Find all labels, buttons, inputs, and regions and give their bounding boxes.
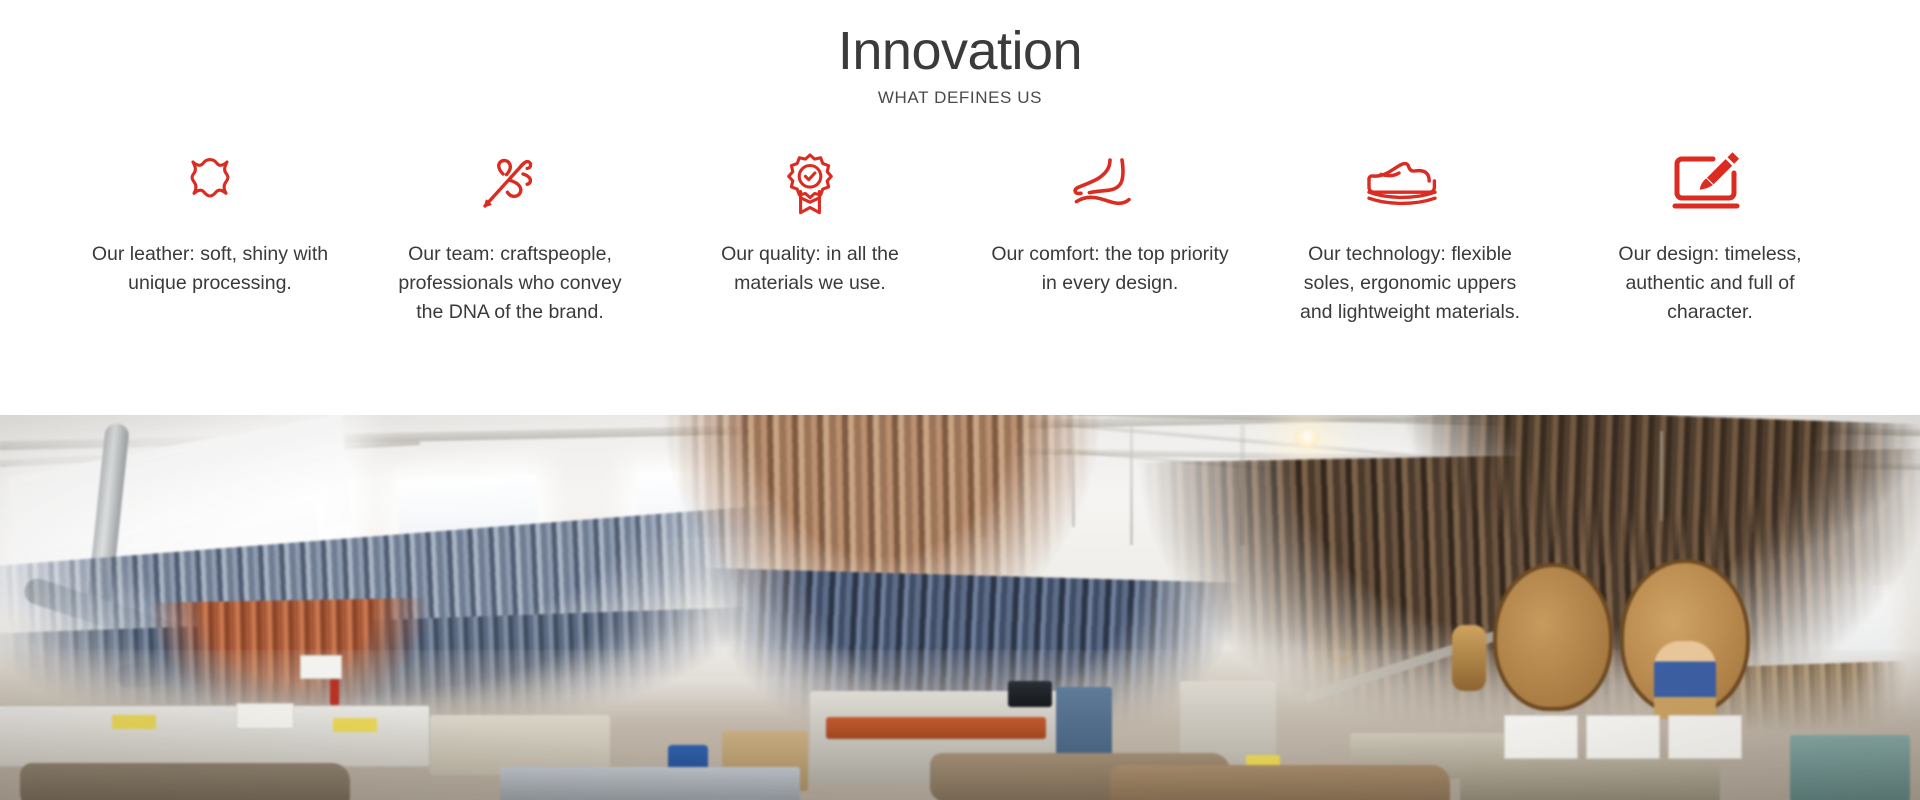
feature-item-design[interactable]: Our design: timeless, authentic and full… [1560, 146, 1860, 327]
warning-label [112, 715, 156, 729]
feature-list: Our leather: soft, shiny with unique pro… [0, 146, 1920, 327]
machine-teal-panel [1790, 735, 1910, 800]
cutting-machine-bed [826, 717, 1046, 739]
mural-drum-1 [1493, 563, 1613, 711]
warning-label [333, 718, 377, 732]
leather-hide-icon [173, 146, 247, 224]
sneaker-icon [1359, 146, 1461, 224]
design-tablet-brush-icon [1669, 146, 1751, 224]
wall-sign [300, 655, 342, 679]
notice-board [1504, 715, 1578, 759]
needle-thread-icon [473, 146, 547, 224]
feature-item-team[interactable]: Our team: craftspeople, professionals wh… [360, 146, 660, 327]
mural-worker [1654, 641, 1716, 719]
processing-machine-left [0, 705, 430, 767]
photo-scene [0, 415, 1920, 800]
notice-board [1586, 715, 1660, 759]
factory-photo [0, 415, 1920, 800]
work-table [1460, 759, 1720, 800]
work-table [500, 767, 800, 800]
notice-board [1668, 715, 1742, 759]
hanging-chain [1660, 431, 1663, 521]
page-title: Innovation [0, 22, 1920, 80]
feature-item-leather[interactable]: Our leather: soft, shiny with unique pro… [60, 146, 360, 298]
hanging-chain [1072, 427, 1075, 527]
feature-text: Our comfort: the top priority in every d… [985, 240, 1235, 298]
pendant-bulb [1294, 429, 1320, 447]
foot-icon [1066, 146, 1154, 224]
mural-figure-left [1452, 625, 1486, 691]
section-header: Innovation WHAT DEFINES US [0, 0, 1920, 108]
feature-text: Our leather: soft, shiny with unique pro… [85, 240, 335, 298]
feature-item-quality[interactable]: Our quality: in all the materials we use… [660, 146, 960, 298]
wall-sign [236, 703, 294, 729]
quality-badge-icon [773, 146, 847, 224]
feature-text: Our design: timeless, authentic and full… [1585, 240, 1835, 327]
feature-item-comfort[interactable]: Our comfort: the top priority in every d… [960, 146, 1260, 298]
feature-item-technology[interactable]: Our technology: flexible soles, ergonomi… [1260, 146, 1560, 327]
feature-text: Our team: craftspeople, professionals wh… [385, 240, 635, 327]
page-subtitle: WHAT DEFINES US [0, 88, 1920, 108]
fire-extinguisher [330, 679, 339, 705]
hide-pile [20, 763, 350, 800]
hanging-chain [1130, 425, 1133, 545]
hide-pile [1110, 765, 1450, 800]
hanging-hides-dark-right-upper [1397, 415, 1920, 584]
feature-text: Our quality: in all the materials we use… [685, 240, 935, 298]
innovation-page: Innovation WHAT DEFINES US Our leather: … [0, 0, 1920, 800]
work-table [430, 715, 610, 775]
machine-monitor [1008, 681, 1052, 707]
feature-text: Our technology: flexible soles, ergonomi… [1285, 240, 1535, 327]
